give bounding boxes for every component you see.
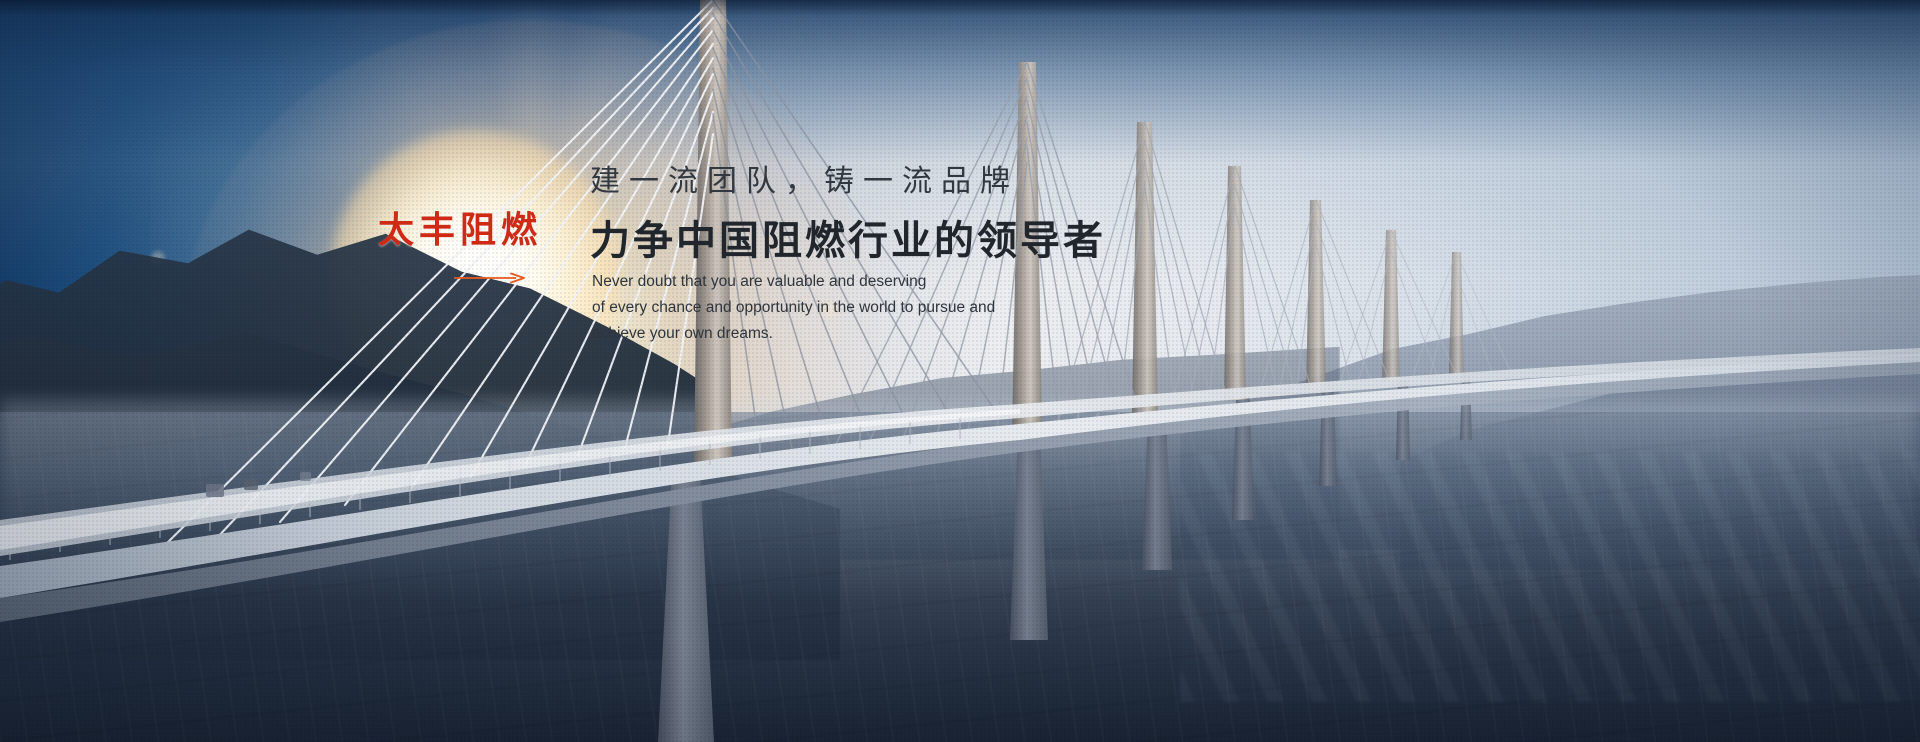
company-logo[interactable]: 太丰阻燃 <box>378 212 538 284</box>
description-line: of every chance and opportunity in the w… <box>592 295 1062 321</box>
banner-description: Never doubt that you are valuable and de… <box>592 269 1062 347</box>
hero-banner: 太丰阻燃 建一流团队，铸一流品牌 力争中国阻燃行业的领导者 Never doub… <box>0 0 1920 742</box>
headline-secondary: 力争中国阻燃行业的领导者 <box>590 208 1106 266</box>
arrow-right-icon <box>454 272 526 284</box>
banner-content: 太丰阻燃 建一流团队，铸一流品牌 力争中国阻燃行业的领导者 Never doub… <box>0 0 1920 742</box>
headline-primary: 建一流团队，铸一流品牌 <box>590 156 1019 200</box>
description-line: achieve your own dreams. <box>592 321 1062 347</box>
company-logo-text: 太丰阻燃 <box>378 212 538 248</box>
description-line: Never doubt that you are valuable and de… <box>592 269 1062 295</box>
